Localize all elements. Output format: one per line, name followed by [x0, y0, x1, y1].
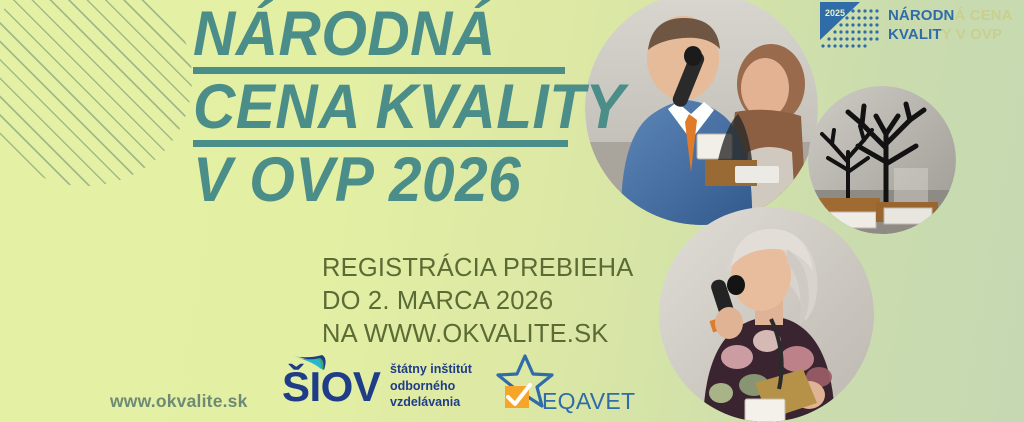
photo-tree-sculpture-awards: [808, 86, 956, 234]
eqavet-wordmark: EQAVET: [542, 388, 635, 415]
badge-year-text: 2025: [825, 8, 845, 18]
website-url-link[interactable]: www.okvalite.sk: [110, 391, 248, 412]
badge-title-line2-faded: Y V OVP: [942, 26, 1002, 43]
badge-title-line2-strong: KVALIT: [888, 26, 942, 43]
registration-info-line-3: NA WWW.OKVALITE.SK: [322, 318, 634, 351]
headline-line-3: V OVP 2026: [193, 152, 584, 210]
siov-wordmark: ŠIOV: [282, 366, 380, 408]
registration-info-line-1: REGISTRÁCIA PREBIEHA: [322, 252, 634, 285]
siov-tagline-line-1: štátny inštitút: [390, 361, 472, 378]
headline-line-2: CENA KVALITY: [193, 79, 584, 137]
siov-tagline: štátny inštitút odborného vzdelávania: [390, 361, 472, 411]
badge-title-line1-strong: NÁRODN: [888, 7, 954, 24]
registration-info: REGISTRÁCIA PREBIEHA DO 2. MARCA 2026 NA…: [322, 252, 634, 351]
badge-triangle-stars-mark: 2025: [820, 2, 883, 50]
siov-tagline-line-3: vzdelávania: [390, 394, 472, 411]
diagonal-hatch-circle-decoration: [0, 0, 192, 186]
badge-title: NÁRODNÁ CENA KVALITY V OVP: [888, 6, 1013, 44]
promo-banner: 2025 NÁRODNÁ CENA KVALITY V OVP NÁRODNÁ …: [0, 0, 1024, 422]
badge-title-line1-faded: Á CENA: [954, 7, 1012, 24]
photo-speaker-woman-with-award: [659, 207, 874, 422]
eqavet-logo[interactable]: EQAVET: [494, 352, 624, 418]
headline-line-1: NÁRODNÁ: [193, 6, 584, 64]
registration-info-line-2: DO 2. MARCA 2026: [322, 285, 634, 318]
siov-tagline-line-2: odborného: [390, 378, 472, 395]
headline-block: NÁRODNÁ CENA KVALITY V OVP 2026: [193, 6, 613, 210]
award-badge-logo: 2025 NÁRODNÁ CENA KVALITY V OVP: [820, 2, 1020, 52]
siov-logo[interactable]: ŠIOV štátny inštitút odborného vzdelávan…: [282, 354, 478, 414]
